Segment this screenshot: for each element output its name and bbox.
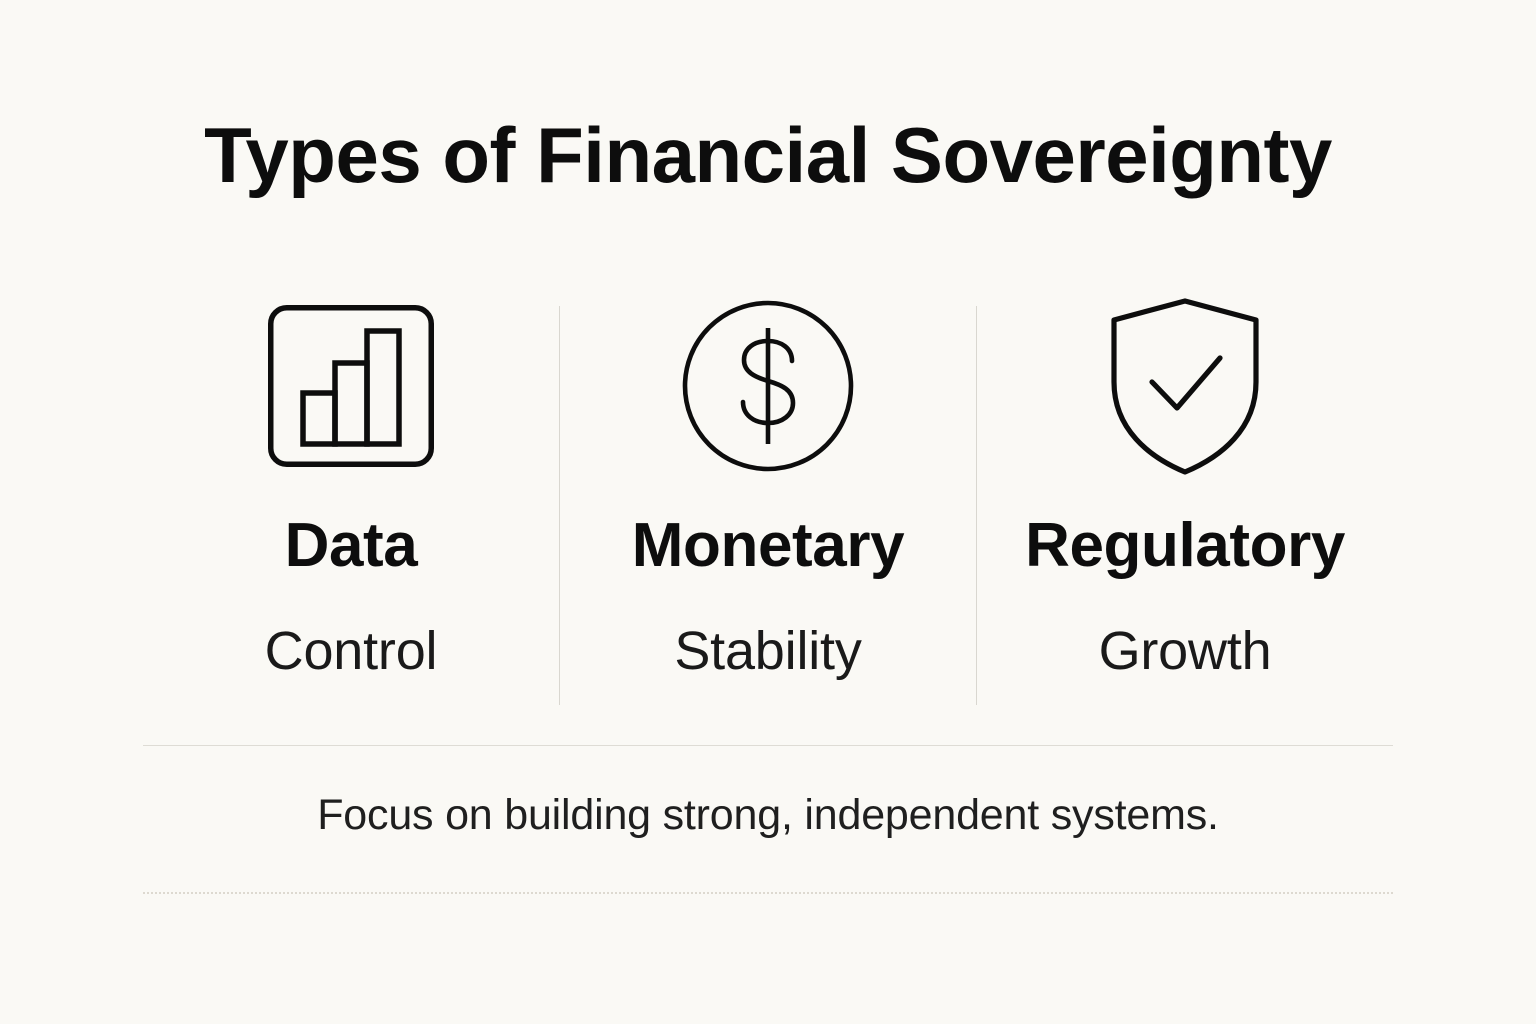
column-label: Monetary: [632, 515, 904, 577]
footer-divider-dotted: [143, 892, 1393, 894]
slide-canvas: Types of Financial Sovereignty Data Cont…: [0, 0, 1536, 1024]
footer-divider-solid: [143, 745, 1393, 746]
column-subtitle: Control: [265, 624, 438, 678]
bar-chart-icon: [268, 296, 434, 476]
column-label: Data: [285, 515, 418, 577]
page-title: Types of Financial Sovereignty: [0, 116, 1536, 194]
column-regulatory: Regulatory Growth: [977, 296, 1393, 716]
dollar-circle-icon: [682, 296, 854, 476]
column-label: Regulatory: [1025, 515, 1345, 577]
shield-check-icon: [1109, 296, 1261, 476]
column-subtitle: Stability: [674, 624, 861, 678]
column-subtitle: Growth: [1099, 624, 1272, 678]
footer-note: Focus on building strong, independent sy…: [0, 794, 1536, 837]
column-monetary: Monetary Stability: [560, 296, 976, 716]
columns-container: Data Control Monetary Stability: [143, 296, 1393, 716]
column-data: Data Control: [143, 296, 559, 716]
